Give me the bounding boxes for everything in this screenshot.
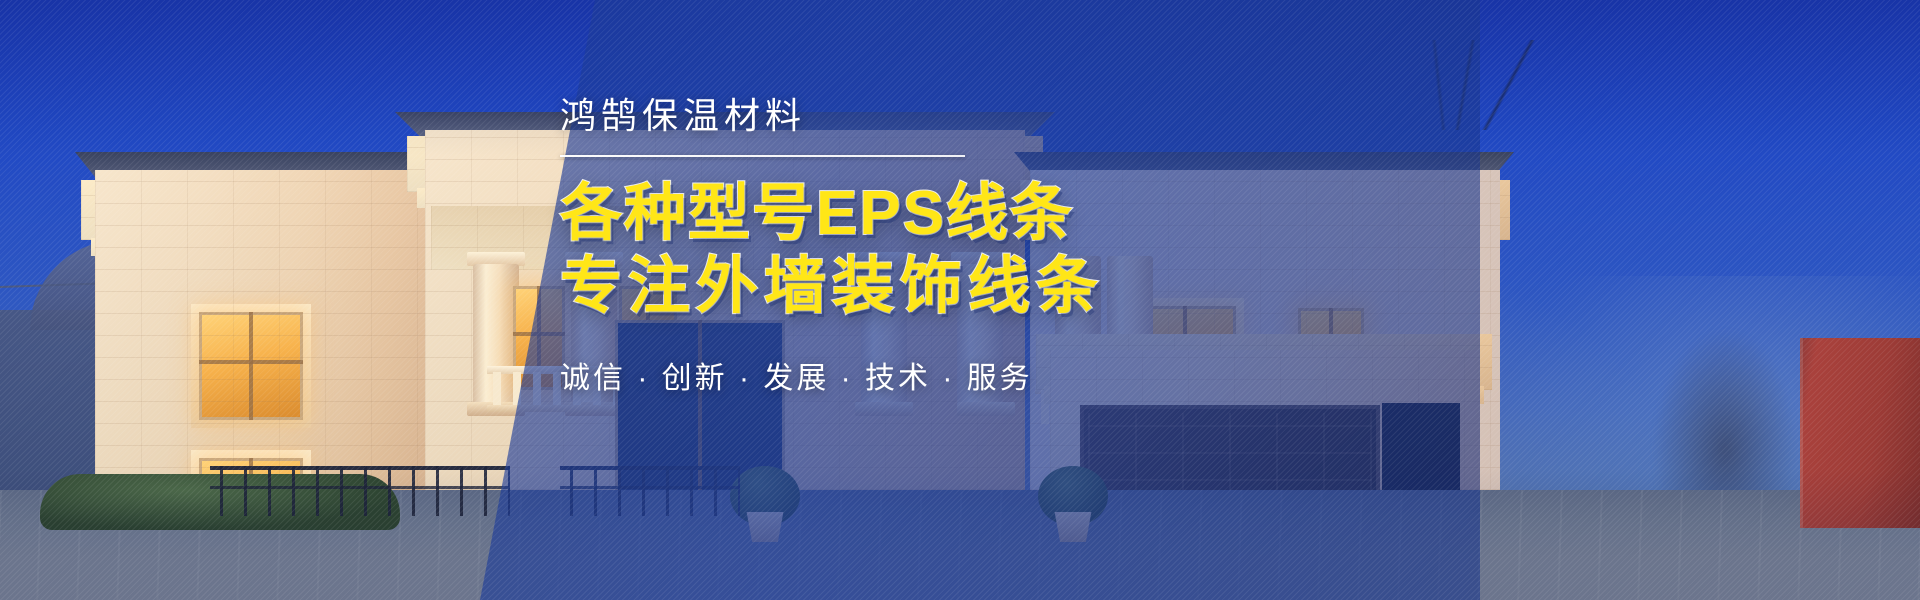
brand-name: 鸿鹄保温材料 bbox=[560, 96, 1480, 136]
tagline: 诚信 · 创新 · 发展 · 技术 · 服务 bbox=[560, 353, 1480, 397]
headline-line-1: 各种型号EPS线条 bbox=[560, 177, 1480, 250]
divider-rule bbox=[560, 155, 965, 157]
headline: 各种型号EPS线条 专注外墙装饰线条 bbox=[560, 177, 1480, 323]
headline-line-2: 专注外墙装饰线条 bbox=[560, 250, 1480, 323]
hero-banner: 鸿鹄保温材料 各种型号EPS线条 专注外墙装饰线条 诚信 · 创新 · 发展 ·… bbox=[0, 0, 1920, 600]
banner-content: 鸿鹄保温材料 各种型号EPS线条 专注外墙装饰线条 诚信 · 创新 · 发展 ·… bbox=[560, 96, 1480, 397]
